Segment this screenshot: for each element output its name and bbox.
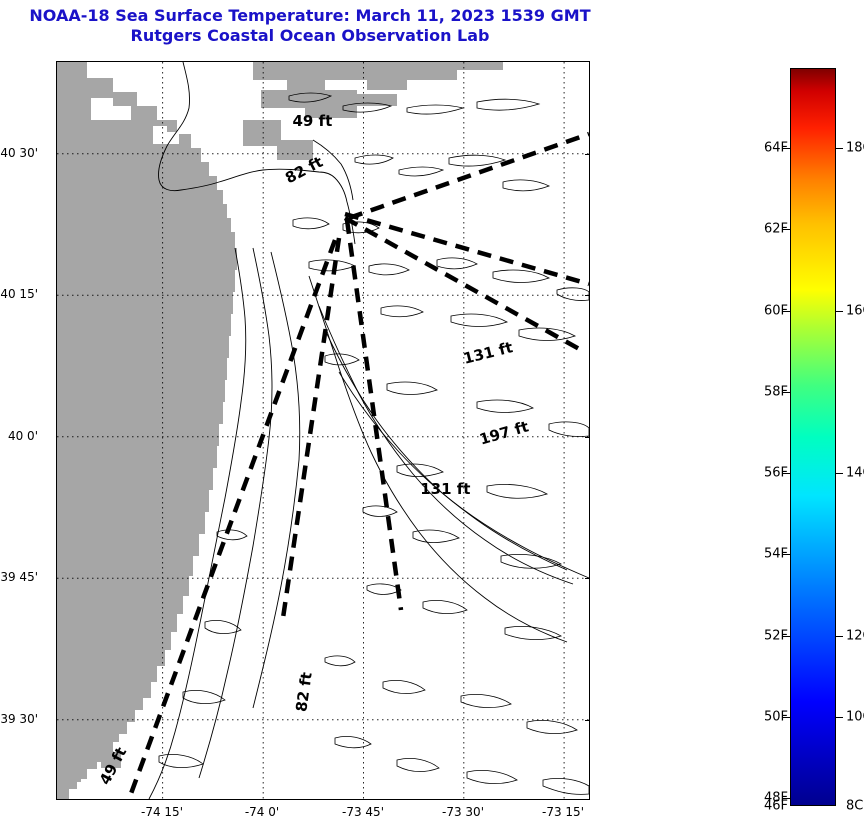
y-tick-label-400: 40 0' xyxy=(8,429,38,443)
transect-se xyxy=(345,218,581,350)
depth-label-131ft-lower: 131 ft xyxy=(420,480,470,498)
x-tick-label-7315: -73 15' xyxy=(542,805,584,819)
land-long-island xyxy=(253,62,503,90)
cb-label-52F: 52F xyxy=(748,629,788,644)
land-new-jersey xyxy=(57,62,237,799)
cb-label-56F: 56F xyxy=(748,466,788,481)
cb-label-60F: 60F xyxy=(748,304,788,319)
colorbar-gradient xyxy=(790,68,836,806)
x-tick-label-7330: -73 30' xyxy=(442,805,484,819)
cb-label-64F: 64F xyxy=(748,141,788,156)
contour-50m xyxy=(319,306,573,584)
y-axis-labels: 40 30' 40 15' 40 0' 39 45' 39 30' xyxy=(0,61,50,800)
land-remnant-1 xyxy=(87,708,109,726)
x-tick-label-7345: -73 45' xyxy=(342,805,384,819)
depth-label-49ft-north: 49 ft xyxy=(292,112,332,130)
land-remnant-3 xyxy=(57,762,81,782)
map-plot-area[interactable]: 49 ft 82 ft 131 ft 197 ft 131 ft 82 ft 4… xyxy=(56,61,590,800)
transect-s2 xyxy=(283,238,339,618)
cb-label-18C: 18C xyxy=(846,141,864,156)
cb-label-10C: 10C xyxy=(846,710,864,725)
contour-40m xyxy=(309,276,567,642)
title-line-1: NOAA-18 Sea Surface Temperature: March 1… xyxy=(0,6,620,26)
contour-30m xyxy=(253,252,300,708)
cb-label-8C: 8C xyxy=(846,799,863,814)
page-title: NOAA-18 Sea Surface Temperature: March 1… xyxy=(0,6,620,46)
cb-label-58F: 58F xyxy=(748,385,788,400)
transect-e xyxy=(345,214,589,284)
cb-label-12C: 12C xyxy=(846,629,864,644)
cb-label-50F: 50F xyxy=(748,710,788,725)
x-tick-label-7415: -74 15' xyxy=(141,805,183,819)
transect-ne xyxy=(349,134,589,218)
cb-label-14C: 14C xyxy=(846,466,864,481)
colorbar xyxy=(790,68,836,806)
y-tick-label-4015: 40 15' xyxy=(0,287,38,301)
x-axis-labels: -74 15' -74 0' -73 45' -73 30' -73 15' xyxy=(56,805,590,831)
transect-s1 xyxy=(347,220,401,610)
cb-label-46F: 46F xyxy=(748,799,788,814)
y-tick-label-3930: 39 30' xyxy=(0,712,38,726)
cb-label-54F: 54F xyxy=(748,547,788,562)
y-tick-label-4030: 40 30' xyxy=(0,146,38,160)
contour-70m xyxy=(339,372,567,570)
title-line-2: Rutgers Coastal Ocean Observation Lab xyxy=(0,26,620,46)
cb-label-62F: 62F xyxy=(748,222,788,237)
cb-label-16C: 16C xyxy=(846,304,864,319)
x-tick-label-740: -74 0' xyxy=(245,805,279,819)
y-tick-label-3945: 39 45' xyxy=(0,570,38,584)
